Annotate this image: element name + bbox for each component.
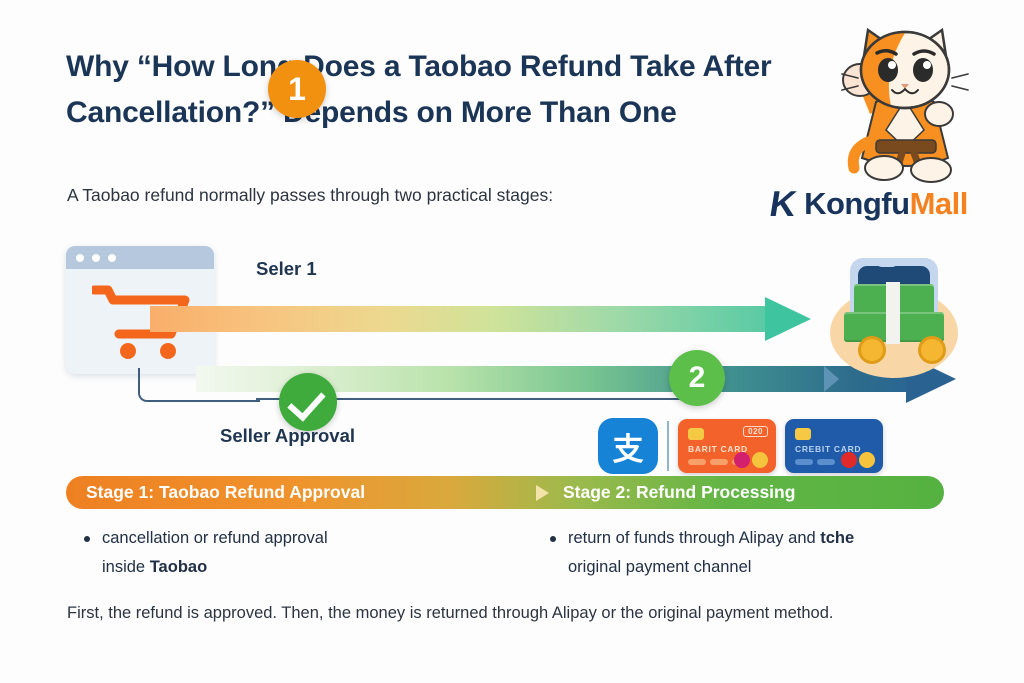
window-dot <box>108 254 116 262</box>
network-circle-right <box>859 452 875 468</box>
network-circle-left <box>734 452 750 468</box>
list-item: cancellation or refund approval inside T… <box>80 524 500 582</box>
card-chip <box>795 428 811 440</box>
stage-1-bullets: cancellation or refund approval inside T… <box>80 524 500 582</box>
payment-methods-row: 支 020 BARIT CARD CREBIT CARD <box>598 418 883 474</box>
bullet-line-2-bold: Taobao <box>150 558 207 576</box>
payment-divider <box>667 421 669 471</box>
stage-2-title: Stage 2: Refund Processing <box>563 482 795 503</box>
green-check-icon <box>279 373 337 431</box>
briefcase-handle <box>876 258 898 267</box>
step-1-number: 1 <box>288 71 306 108</box>
card-network-icon <box>841 452 875 468</box>
card-cvv: 020 <box>743 426 768 437</box>
card-stripe <box>688 459 706 465</box>
stage-separator-arrow-icon <box>536 485 549 501</box>
seller-approval-label: Seller Approval <box>220 425 355 447</box>
step-1-marker: 1 <box>268 60 326 118</box>
bullet-line-2: original payment channel <box>568 558 751 576</box>
window-dot <box>76 254 84 262</box>
card-stripe <box>817 459 835 465</box>
cash-band <box>886 282 900 344</box>
page-subtitle: A Taobao refund normally passes through … <box>67 185 767 206</box>
step-1-label: Seler 1 <box>256 258 317 280</box>
browser-title-bar <box>66 246 214 269</box>
footer-text: First, the refund is approved. Then, the… <box>67 598 957 629</box>
stage-bar: Stage 1: Taobao Refund Approval Stage 2:… <box>66 476 944 509</box>
window-dot <box>92 254 100 262</box>
kungfu-cat-mascot-icon <box>806 22 1006 187</box>
check-tick <box>287 382 325 421</box>
network-circle-left <box>841 452 857 468</box>
debit-card-icon: 020 BARIT CARD <box>678 419 776 473</box>
network-circle-right <box>752 452 768 468</box>
credit-card-icon: CREBIT CARD <box>785 419 883 473</box>
logo-text-kongfu: Kongfu <box>804 186 909 221</box>
bullet-line-1-prefix: return of funds through Alipay and <box>568 529 820 547</box>
step-2-marker: 2 <box>669 350 725 406</box>
logo-text-mall: Mall <box>910 186 968 221</box>
stage1-arrow-band <box>150 306 775 332</box>
list-item: return of funds through Alipay and tche … <box>546 524 966 582</box>
infographic-page: Why “How Long Does a Taobao Refund Take … <box>0 0 1024 683</box>
page-title: Why “How Long Does a Taobao Refund Take … <box>66 44 806 136</box>
card-chip <box>688 428 704 440</box>
gold-coin <box>918 336 946 364</box>
stage1-arrow <box>150 306 810 332</box>
card-stripe <box>710 459 728 465</box>
bullet-line-2-prefix: inside <box>102 558 150 576</box>
stage-1-title: Stage 1: Taobao Refund Approval <box>86 482 365 503</box>
stage1-arrow-head <box>765 297 811 341</box>
stage-2-bullets: return of funds through Alipay and tche … <box>546 524 966 582</box>
gold-coin <box>858 336 886 364</box>
step-2-number: 2 <box>689 361 706 395</box>
card-network-icon <box>734 452 768 468</box>
alipay-glyph: 支 <box>613 424 644 469</box>
bullet-line-1: cancellation or refund approval <box>102 529 328 547</box>
card-stripe <box>795 459 813 465</box>
bullet-line-1-bold: tche <box>820 529 854 547</box>
cash-briefcase-icon <box>818 256 968 378</box>
brand-logo: KongfuMall <box>766 186 1006 222</box>
alipay-icon: 支 <box>598 418 658 474</box>
